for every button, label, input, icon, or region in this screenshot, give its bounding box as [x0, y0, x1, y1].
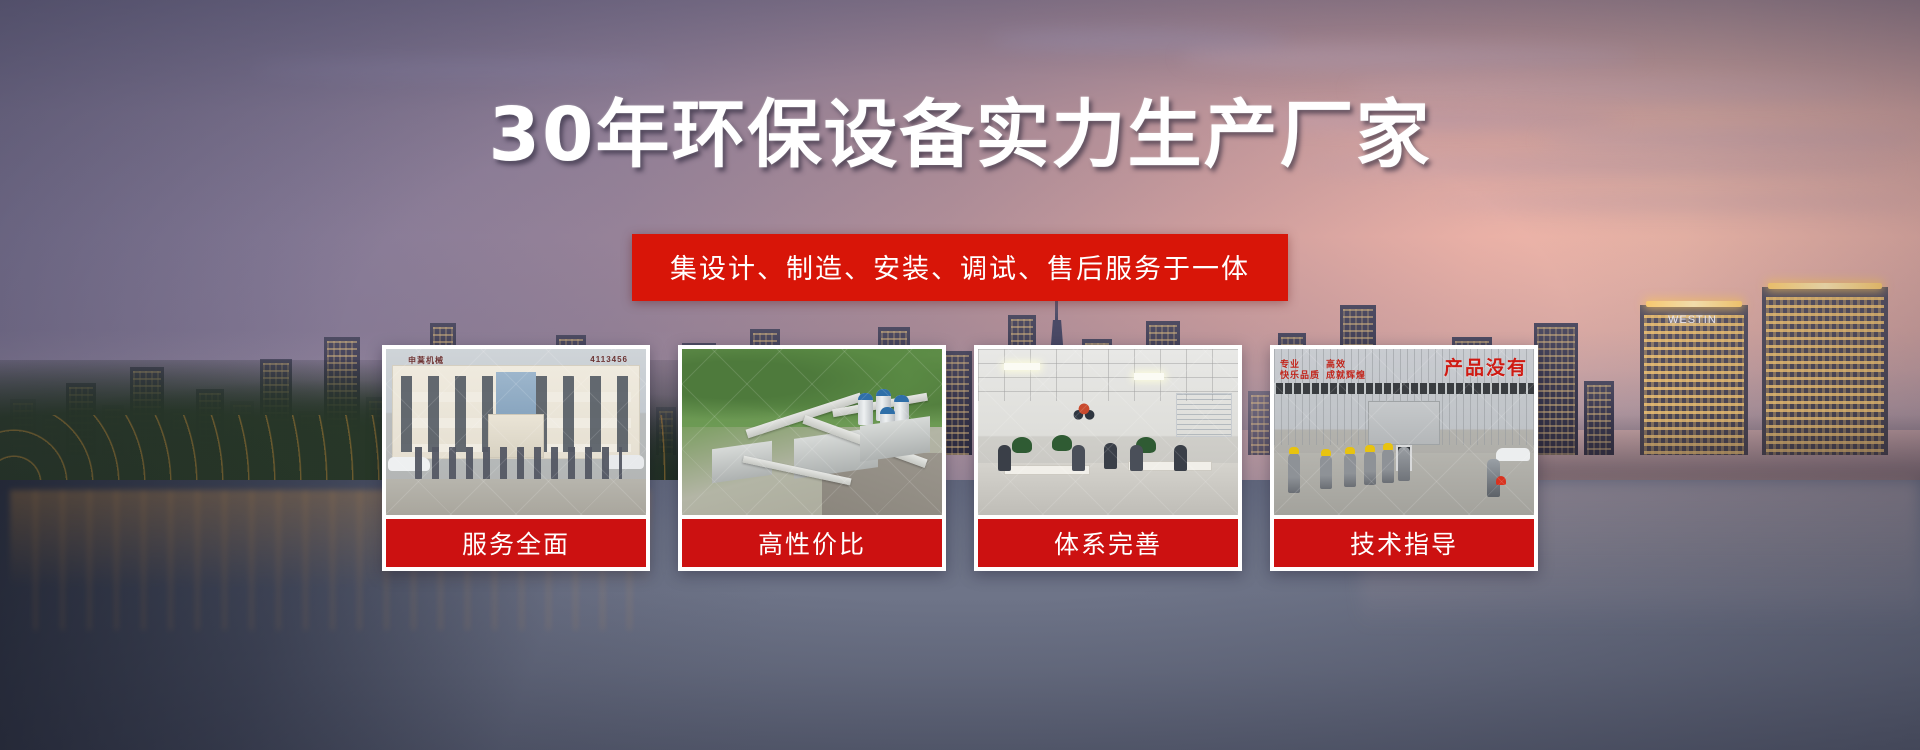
card-photo-training: 产品没有 专业 快乐品质 高效 成就辉煌 — [1274, 349, 1534, 515]
photo-phone-number: 4113456 — [590, 355, 628, 364]
card-photo-plant — [682, 349, 942, 515]
card-photo-office — [978, 349, 1238, 515]
feature-card[interactable]: 高性价比 — [678, 345, 946, 571]
banner-content: 30年环保设备实力生产厂家 集设计、制造、安装、调试、售后服务于一体 申蒿机械 … — [0, 0, 1920, 750]
page-title: 30年环保设备实力生产厂家 — [0, 98, 1920, 172]
feature-card[interactable]: 申蒿机械 4113456 服务全面 — [382, 345, 650, 571]
card-caption: 服务全面 — [386, 519, 646, 567]
photo-company-sign: 申蒿机械 — [408, 355, 444, 366]
subtitle-ribbon: 集设计、制造、安装、调试、售后服务于一体 — [632, 234, 1288, 301]
card-caption: 体系完善 — [978, 519, 1238, 567]
hero-banner: WESTIN 30年环保设备实力生产厂家 集设计、制造、安装、调试、售后服务于一… — [0, 0, 1920, 750]
factory-slogan-4: 成就辉煌 — [1326, 370, 1366, 380]
factory-sign: 产品没有 — [1444, 353, 1528, 380]
feature-card[interactable]: 产品没有 专业 快乐品质 高效 成就辉煌 — [1270, 345, 1538, 571]
card-caption: 高性价比 — [682, 519, 942, 567]
card-caption: 技术指导 — [1274, 519, 1534, 567]
feature-card-list: 申蒿机械 4113456 服务全面 — [382, 345, 1538, 571]
card-photo-service: 申蒿机械 4113456 — [386, 349, 646, 515]
feature-card[interactable]: 体系完善 — [974, 345, 1242, 571]
factory-slogan-2: 高效 — [1326, 359, 1346, 369]
wall-logo-icon — [1070, 399, 1098, 421]
factory-slogan-3: 快乐品质 — [1280, 370, 1320, 380]
red-helmet-icon — [1496, 476, 1506, 485]
factory-slogan-1: 专业 — [1280, 359, 1300, 369]
